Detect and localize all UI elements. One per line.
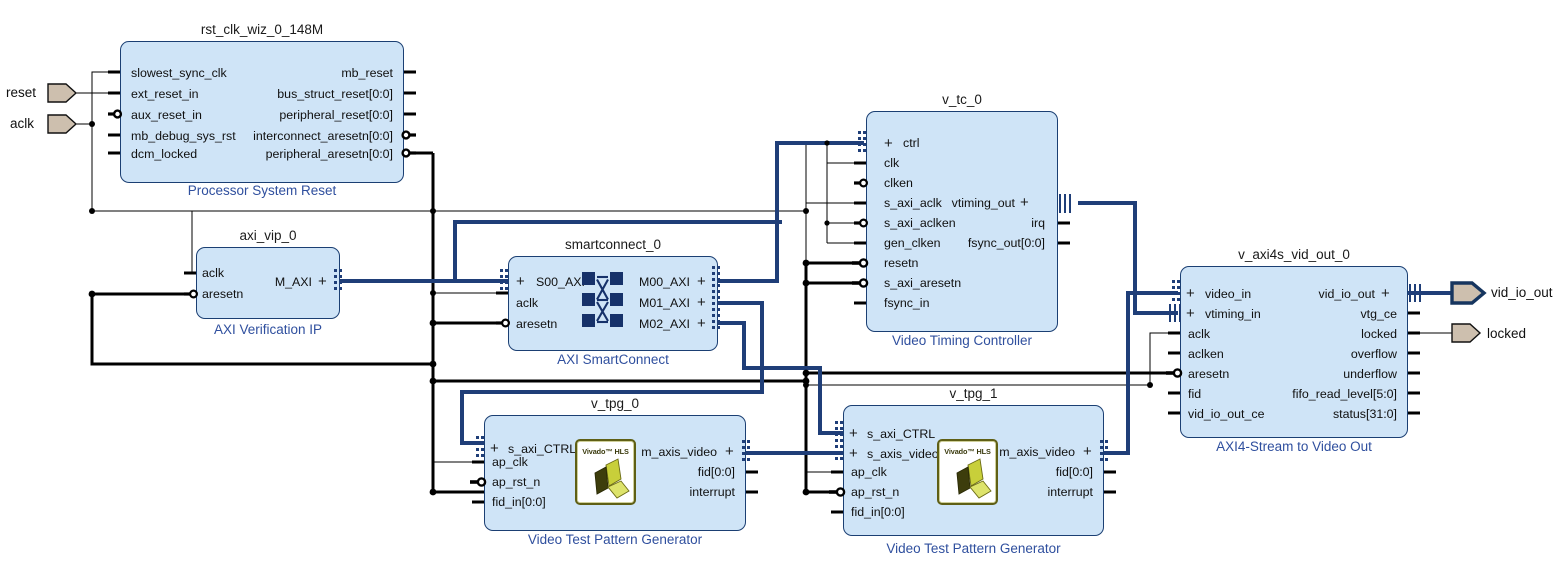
block-design-canvas[interactable]: reset aclk vid_io_out locked rst_clk_wiz… xyxy=(0,0,1556,581)
v-tpg-1-pin-stubs xyxy=(0,0,1556,581)
